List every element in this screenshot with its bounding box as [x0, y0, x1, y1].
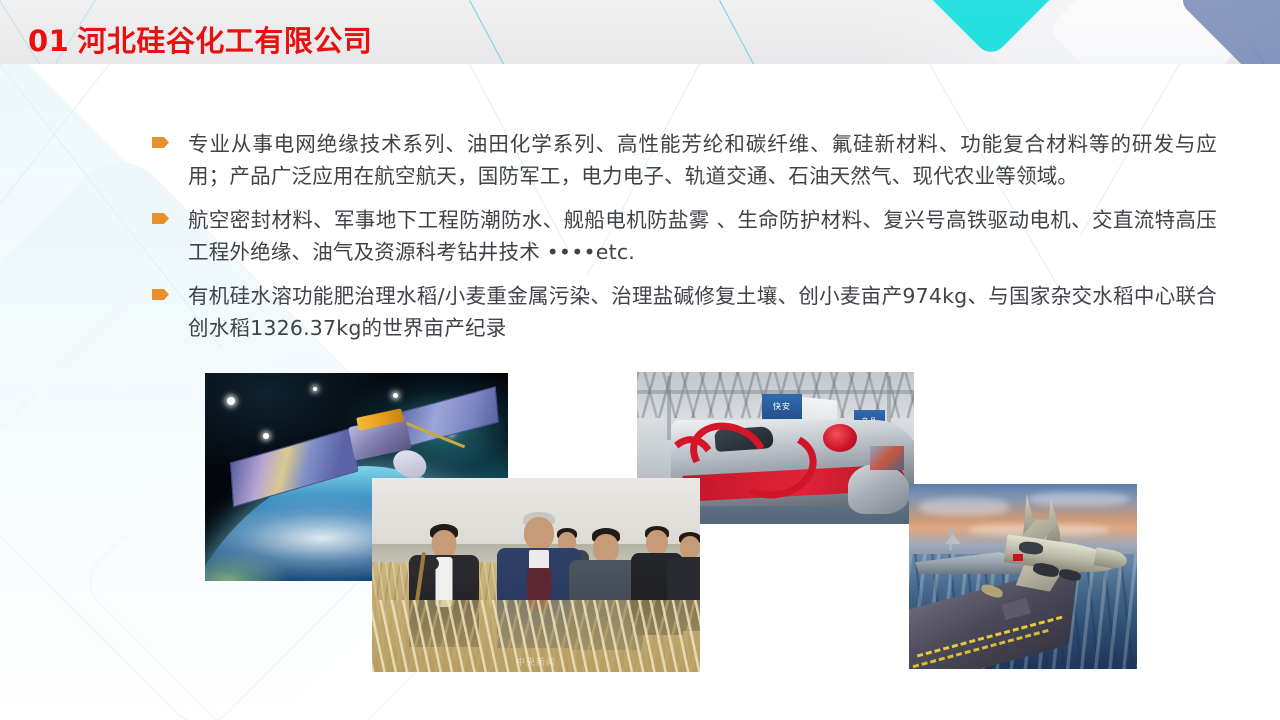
- aircraft-carrier-photo: [909, 484, 1137, 669]
- background-diagonal-line: [0, 63, 110, 300]
- slide-number: 01: [28, 24, 69, 58]
- star-icon: [313, 387, 317, 391]
- bullet-list: 专业从事电网绝缘技术系列、油田化学系列、高性能芳纶和碳纤维、氟硅新材料、功能复合…: [152, 128, 1217, 356]
- flag-marking-icon: [1013, 554, 1023, 561]
- star-icon: [227, 397, 235, 405]
- bullet-text: 航空密封材料、军事地下工程防潮防水、舰船电机防盐雾 、生命防护材料、复兴号高铁驱…: [188, 204, 1217, 268]
- head: [593, 534, 619, 563]
- head: [646, 530, 668, 555]
- header-diagonal-line: [719, 0, 781, 64]
- cloud: [1029, 492, 1129, 506]
- photo-watermark: 中央新闻: [516, 655, 556, 668]
- arrow-marker-icon: [152, 137, 169, 148]
- red-flower-decoration: [823, 424, 857, 452]
- presentation-slide: 01河北硅谷化工有限公司 专业从事电网绝缘技术系列、油田化学系列、高性能芳纶和碳…: [0, 0, 1280, 720]
- cloud: [919, 498, 1009, 516]
- header-diagonal-line: [469, 0, 531, 64]
- factory-banner: 快安: [762, 394, 802, 419]
- list-item: 航空密封材料、军事地下工程防潮防水、舰船电机防盐雾 、生命防护材料、复兴号高铁驱…: [152, 204, 1217, 268]
- slide-header-band: 01河北硅谷化工有限公司: [0, 0, 1280, 64]
- head: [680, 536, 700, 559]
- head: [524, 517, 554, 550]
- arrow-marker-icon: [152, 213, 169, 224]
- list-item: 专业从事电网绝缘技术系列、油田化学系列、高性能芳纶和碳纤维、氟硅新材料、功能复合…: [152, 128, 1217, 192]
- train-nose-cone: [848, 464, 910, 514]
- star-icon: [393, 393, 398, 398]
- list-item: 有机硅水溶功能肥治理水稻/小麦重金属污染、治理盐碱修复土壤、创小麦亩产974kg…: [152, 280, 1217, 344]
- bullet-text: 有机硅水溶功能肥治理水稻/小麦重金属污染、治理盐碱修复土壤、创小麦亩产974kg…: [188, 280, 1217, 344]
- arrow-marker-icon: [152, 289, 169, 300]
- wall-poster: [870, 446, 904, 470]
- head: [432, 530, 457, 558]
- page-title: 01河北硅谷化工有限公司: [28, 18, 372, 60]
- slide-title-text: 河北硅谷化工有限公司: [77, 24, 372, 58]
- agriculture-rice-field-photo: 中央新闻: [372, 478, 700, 672]
- bullet-text: 专业从事电网绝缘技术系列、油田化学系列、高性能芳纶和碳纤维、氟硅新材料、功能复合…: [188, 128, 1217, 192]
- star-icon: [263, 433, 269, 439]
